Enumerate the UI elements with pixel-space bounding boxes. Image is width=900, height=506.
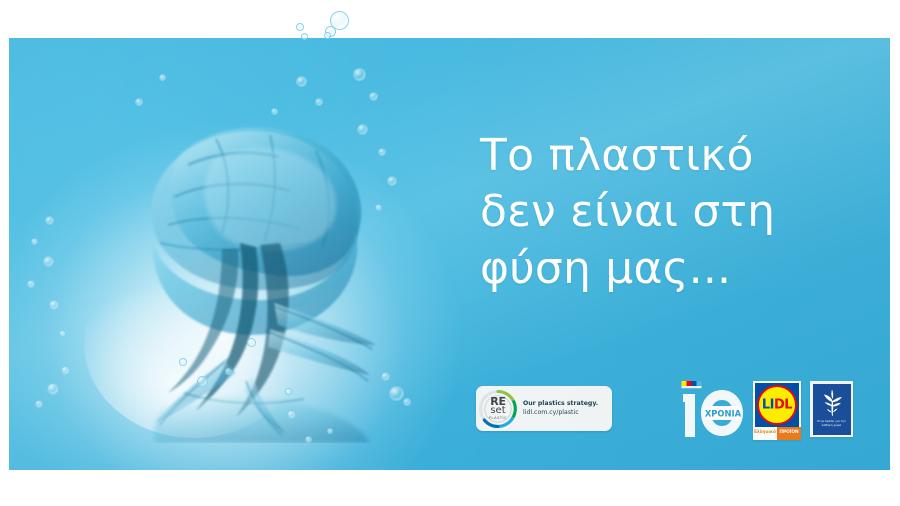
lidl-sub-badge-right: ΠΡΟΪΟΝ: [777, 427, 801, 440]
bubble: [31, 238, 38, 245]
bubble: [285, 388, 292, 395]
reset-plastic-ring-icon: RE set PLASTIC: [477, 388, 519, 430]
lidl-sub-badge-left: Ελληνικό: [753, 427, 777, 440]
eco-certificate-caption: Στην δράση για την καθαρή χώρα: [813, 419, 851, 428]
bubble: [389, 386, 404, 401]
lidl-word-right: DL: [774, 398, 792, 413]
reset-plastic-text: PLASTIC: [489, 417, 507, 421]
bubble: [61, 366, 70, 375]
reset-badge-text: Our plastics strategy. lidl.com.cy/plast…: [523, 400, 598, 418]
headline-line-3: φύση μας...: [480, 241, 810, 297]
bubble: [324, 32, 331, 39]
plastic-bag-underwater-image: [64, 93, 424, 443]
bubble: [315, 98, 323, 106]
bubble: [27, 280, 35, 288]
bubble: [49, 300, 59, 310]
bubble: [271, 108, 278, 115]
reset-plastic-wordmark: RE set PLASTIC: [477, 388, 519, 430]
anniversary-10-years-logo: ΧΡΟΝΙΑ: [681, 381, 749, 437]
bubble: [369, 92, 378, 101]
bubble: [135, 98, 143, 106]
bubble: [287, 410, 296, 419]
bubble: [35, 400, 43, 408]
bubble: [225, 368, 232, 375]
tree-leaf-icon: [820, 389, 844, 417]
bubble: [45, 216, 54, 225]
bubble: [375, 204, 382, 211]
anniversary-color-bars: [682, 381, 702, 388]
bubble: [247, 338, 256, 347]
bubble: [305, 436, 312, 443]
poster-canvas: Το πλαστικό δεν είναι στη φύση μας...: [0, 0, 900, 506]
lidl-logo: LIDL: [753, 381, 801, 429]
bubble: [301, 33, 308, 40]
bubble: [159, 74, 166, 81]
bubble: [197, 376, 208, 387]
bubble: [296, 23, 304, 31]
bubble: [43, 256, 54, 267]
bubble: [47, 383, 59, 395]
bubble: [296, 76, 307, 87]
headline: Το πλαστικό δεν είναι στη φύση μας...: [480, 128, 810, 297]
bubble: [357, 124, 368, 135]
lidl-word-left: LI: [762, 398, 774, 413]
bubble: [403, 398, 411, 406]
eco-certificate-logo: Στην δράση για την καθαρή χώρα: [810, 381, 853, 437]
lidl-logo-square: LIDL: [755, 383, 799, 427]
anniversary-label: ΧΡΟΝΙΑ: [705, 408, 742, 418]
bubble: [378, 148, 386, 156]
bubble: [381, 372, 390, 381]
underwater-background: Το πλαστικό δεν είναι στη φύση μας...: [9, 38, 890, 470]
reset-badge-line-1: Our plastics strategy.: [523, 400, 598, 409]
headline-line-1: Το πλαστικό: [480, 128, 810, 184]
reset-plastic-badge[interactable]: RE set PLASTIC Our plastics strategy. li…: [476, 386, 612, 431]
reset-set-text: set: [490, 406, 505, 416]
lidl-sub-badge: Ελληνικό ΠΡΟΪΟΝ: [753, 427, 801, 440]
bubble: [179, 358, 187, 366]
bubble: [327, 428, 333, 434]
headline-line-2: δεν είναι στη: [480, 184, 810, 240]
bubble: [353, 68, 366, 81]
reset-badge-line-2[interactable]: lidl.com.cy/plastic: [523, 409, 598, 418]
bubble: [59, 330, 66, 337]
bubble: [387, 176, 397, 186]
lidl-wordmark: LIDL: [755, 398, 799, 413]
eco-certificate-panel: Στην δράση για την καθαρή χώρα: [813, 384, 851, 435]
